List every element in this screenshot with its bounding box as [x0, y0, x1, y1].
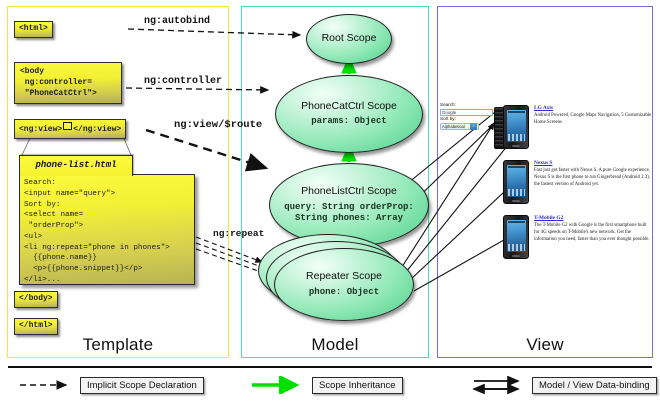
legend: Implicit Scope Declaration Scope Inherit…	[8, 374, 652, 400]
template-note-phone-list: phone-list.html Search: <input name="que…	[19, 155, 195, 285]
list-item[interactable]: LG Axis Android Powered, Google Maps Nav…	[503, 105, 653, 149]
code-box-ng-view: <ng:view></ng:view>	[14, 119, 126, 139]
list-item[interactable]: Nexus S Fast just got faster with Nexus …	[503, 160, 653, 204]
legend-item-implicit-scope-declaration: Implicit Scope Declaration	[18, 376, 204, 394]
scope-root: Root Scope	[306, 14, 392, 64]
legend-label: Scope Inheritance	[312, 377, 403, 394]
scope-phonecatctrl: PhoneCatCtrl Scope params: Object	[275, 75, 423, 153]
legend-label: Implicit Scope Declaration	[80, 377, 204, 394]
phone-image-nexus-s	[503, 160, 529, 204]
list-item[interactable]: T-Mobile G2 The T-Mobile G2 with Google …	[503, 215, 653, 259]
edge-label-ng-repeat: ng:repeat	[212, 228, 265, 239]
phone-text: T-Mobile G2 The T-Mobile G2 with Google …	[534, 215, 653, 259]
note-code: Search: <input name="query"> Sort by: <s…	[19, 174, 195, 285]
ng-view-open-tag: <ng:view>	[19, 125, 62, 134]
scope-repeater-name: Repeater Scope	[306, 271, 382, 283]
search-input[interactable]: Google	[440, 109, 493, 116]
legend-label: Model / View Data-binding	[532, 377, 657, 394]
phone-home-button	[512, 145, 520, 147]
code-box-body-open: <body ng:controller= "PhoneCatCtrl">	[14, 62, 122, 104]
scope-repeater: Repeater Scope phone: Object	[274, 248, 414, 321]
phone-text: Nexus S Fast just got faster with Nexus …	[534, 160, 653, 204]
phone-home-button	[512, 200, 520, 202]
phone-snippet: Android Powered, Google Maps Navigation,…	[534, 113, 653, 127]
phone-text: LG Axis Android Powered, Google Maps Nav…	[534, 105, 653, 149]
phone-name-link[interactable]: Nexus S	[534, 160, 653, 166]
phone-screen	[507, 165, 526, 197]
edge-label-ng-view-route: ng:view/$route	[173, 119, 263, 131]
column-label-view: View	[438, 335, 652, 355]
placeholder-square-icon	[63, 122, 72, 130]
phone-snippet: Fast just got faster with Nexus S. A pur…	[534, 168, 653, 189]
scope-phonecatctrl-name: PhoneCatCtrl Scope	[301, 101, 397, 113]
edge-label-ng-controller: ng:controller	[143, 76, 223, 87]
phone-image-lg-axis	[503, 105, 529, 149]
chevron-updown-icon: ↕	[470, 123, 477, 130]
scope-repeater-props: phone: Object	[309, 287, 379, 298]
ng-view-close-tag: </ng:view>	[73, 125, 121, 134]
phone-snippet: The T-Mobile G2 with Google is the first…	[534, 223, 653, 244]
phone-screen	[507, 220, 526, 252]
column-label-template: Template	[8, 335, 228, 355]
phone-name-link[interactable]: T-Mobile G2	[534, 215, 653, 221]
double-arrow-icon	[470, 376, 526, 394]
note-title: phone-list.html	[20, 156, 132, 175]
phone-image-t-mobile-g2	[503, 215, 529, 259]
diagram-canvas: Template Model View	[0, 0, 660, 405]
note-tab: phone-list.html	[19, 155, 133, 176]
phone-body	[503, 160, 529, 204]
green-arrow-icon	[250, 376, 306, 394]
phone-body	[503, 105, 529, 149]
legend-item-scope-inheritance: Scope Inheritance	[250, 376, 403, 394]
dashed-arrow-icon	[18, 376, 74, 394]
legend-item-model-view-data-binding: Model / View Data-binding	[470, 376, 657, 394]
sort-select-value: Alphabetical	[442, 124, 470, 130]
phone-screen	[507, 110, 526, 142]
scope-phonelistctrl: PhoneListCtrl Scope query: String orderP…	[269, 163, 429, 247]
phone-home-button	[512, 255, 520, 257]
column-label-model: Model	[242, 335, 428, 355]
edge-label-ng-autobind: ng:autobind	[143, 16, 211, 27]
scope-phonelistctrl-name: PhoneListCtrl Scope	[301, 186, 397, 198]
view-search-widget: Search: Google Sort by: Alphabetical ↕	[440, 102, 495, 130]
sort-label: Sort by:	[440, 116, 495, 123]
code-box-html-close: </html>	[14, 318, 58, 335]
scope-phonecatctrl-props: params: Object	[311, 116, 387, 127]
legend-divider	[8, 366, 652, 368]
scope-root-name: Root Scope	[322, 33, 377, 45]
code-box-html-open: <html>	[14, 21, 53, 38]
search-label: Search:	[440, 102, 495, 109]
scope-phonelistctrl-props: query: String orderProp: String phones: …	[270, 202, 428, 225]
code-box-body-close: </body>	[14, 291, 58, 308]
sort-select[interactable]: Alphabetical ↕	[440, 123, 479, 131]
phone-name-link[interactable]: LG Axis	[534, 105, 653, 111]
phone-body	[503, 215, 529, 259]
